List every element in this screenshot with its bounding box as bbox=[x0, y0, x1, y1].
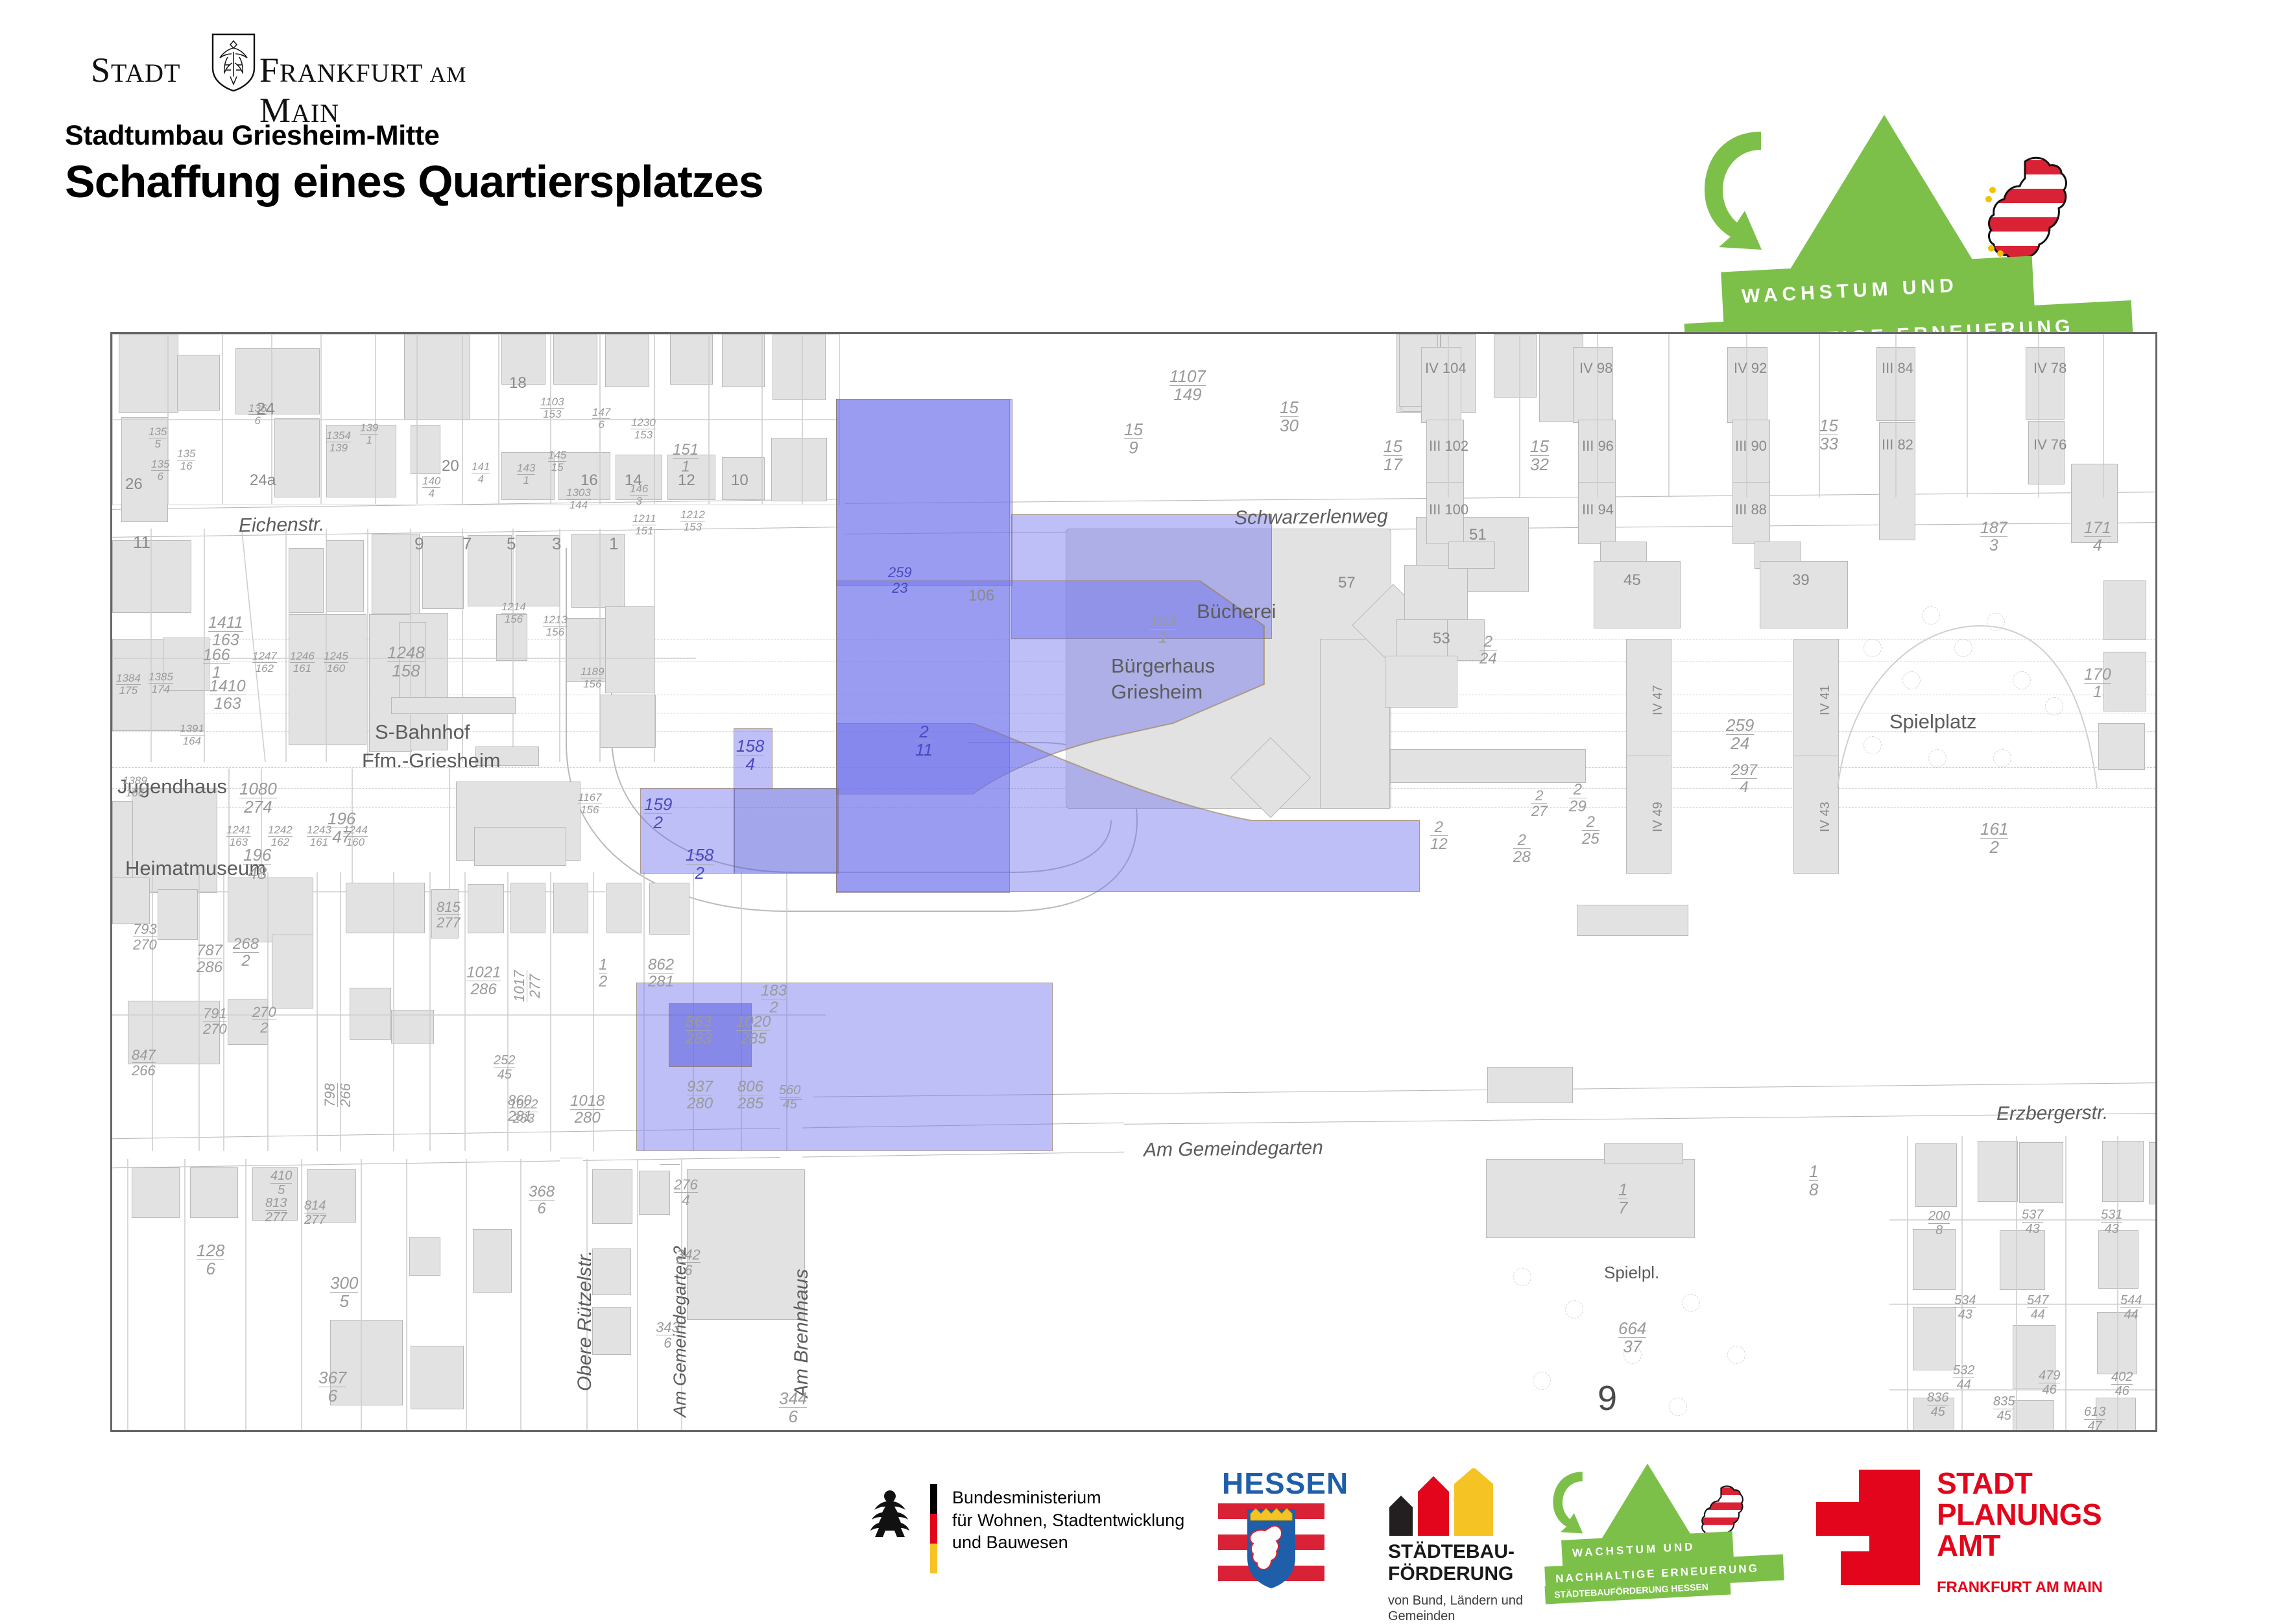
parcel-fraction: 1873 bbox=[1980, 519, 2007, 555]
parcel-denominator: 158 bbox=[392, 661, 420, 680]
parcel-denominator: 43 bbox=[2026, 1222, 2040, 1236]
parcel-fraction: 1531 bbox=[1150, 613, 1176, 646]
parcel-fraction: 19648 bbox=[243, 846, 271, 883]
parcel-denominator: 6 bbox=[598, 418, 604, 431]
program-logo-footer: WACHSTUM UND NACHHALTIGE ERNEUERUNG STÄD… bbox=[1550, 1466, 1810, 1602]
parcel-fraction: 56045 bbox=[779, 1084, 800, 1112]
parcel-fraction: 1213156 bbox=[543, 614, 568, 638]
parcel-fraction: 1167156 bbox=[578, 792, 602, 816]
parcel-denominator: 37 bbox=[1623, 1337, 1642, 1356]
parcel-denominator: 1 bbox=[681, 458, 689, 475]
house-number: IV 76 bbox=[2033, 436, 2066, 453]
building bbox=[2103, 580, 2146, 640]
parcel-fraction: 1592 bbox=[644, 796, 672, 832]
parcel-denominator: 32 bbox=[1530, 455, 1549, 474]
parcel-denominator: 2 bbox=[653, 813, 662, 832]
stadtplanungsamt-line1: STADT bbox=[1937, 1468, 2102, 1499]
parcel-denominator: 277 bbox=[527, 974, 543, 998]
street-label-schwarzerlenweg: Schwarzerlenweg bbox=[1234, 506, 1388, 529]
parcel-fraction: 159 bbox=[1124, 421, 1143, 457]
parcel-denominator: 6 bbox=[684, 1262, 692, 1278]
parcel-fraction: 229 bbox=[1569, 782, 1587, 815]
parcel-fraction: 1389166 bbox=[123, 775, 147, 799]
bmwsb-logo: Bundesministerium für Wohnen, Stadtentwi… bbox=[863, 1472, 1200, 1595]
parcel-denominator: 28 bbox=[1513, 848, 1531, 866]
parcel-denominator: 4 bbox=[477, 473, 483, 485]
poi-label-spielpl: Spielpl. bbox=[1604, 1263, 1659, 1283]
parcel-denominator: 30 bbox=[1280, 416, 1299, 435]
parcel-fraction: 1661 bbox=[203, 647, 230, 682]
parcel-fraction: 53244 bbox=[1953, 1364, 1974, 1392]
parcel-fraction: 3436 bbox=[656, 1320, 680, 1350]
parcel-denominator: 162 bbox=[256, 662, 274, 675]
parcel-denominator: 15 bbox=[551, 461, 564, 473]
parcel-denominator: 6 bbox=[157, 470, 163, 483]
poi-label-buecherei: Bücherei bbox=[1197, 600, 1276, 623]
house-number: 20 bbox=[442, 457, 459, 475]
staedtebau-title1: STÄDTEBAU- bbox=[1388, 1541, 1515, 1563]
parcel-denominator: 11 bbox=[915, 740, 933, 759]
parcel-fraction: 815277 bbox=[437, 900, 461, 930]
parcel-fraction: 863283 bbox=[686, 1014, 712, 1047]
parcel-denominator: 6 bbox=[206, 1259, 215, 1278]
parcel-fraction: 211 bbox=[915, 723, 933, 759]
parcel-fraction: 793270 bbox=[133, 922, 157, 952]
parcel-fraction: 1414 bbox=[472, 461, 490, 485]
parcel-fraction: 3686 bbox=[529, 1184, 555, 1217]
poi-label-spielplatz: Spielplatz bbox=[1889, 710, 1976, 734]
parcel-fraction: 813277 bbox=[265, 1197, 287, 1224]
parcel-denominator: 162 bbox=[271, 836, 289, 848]
parcel-lines bbox=[112, 1159, 826, 1430]
parcel-fraction: 1018280 bbox=[570, 1093, 605, 1126]
parcel-fraction: 1391 bbox=[360, 422, 378, 446]
parcel-denominator: 280 bbox=[575, 1109, 601, 1127]
house-number: IV 43 bbox=[1818, 802, 1833, 832]
parcel-denominator: 4 bbox=[428, 487, 434, 499]
parcel-fraction: 1511 bbox=[673, 442, 699, 475]
parcel-denominator: 17 bbox=[1384, 455, 1402, 474]
parcel-fraction: 1022283 bbox=[509, 1098, 538, 1126]
parcel-fraction: 1533 bbox=[1819, 417, 1838, 453]
parcel-fraction: 1530 bbox=[1280, 399, 1299, 435]
flag-stripe-gold bbox=[930, 1544, 937, 1573]
parcel-denominator: 47 bbox=[2088, 1419, 2102, 1432]
parcel-denominator: 283 bbox=[513, 1112, 534, 1126]
parcel-denominator: 4 bbox=[2093, 536, 2102, 555]
city-logo-word-frankfurt: FRANKFURT AM MAIN bbox=[259, 50, 506, 130]
parcel-denominator: 286 bbox=[197, 959, 222, 976]
parcel-denominator: 9 bbox=[1129, 438, 1138, 457]
house-number: 39 bbox=[1792, 571, 1810, 590]
house-number: 57 bbox=[1338, 574, 1356, 592]
parcel-denominator: 151 bbox=[635, 525, 653, 537]
poi-label-ffm-griesheim: Ffm.-Griesheim bbox=[362, 749, 501, 772]
parcel-fraction: 1211151 bbox=[632, 513, 656, 537]
parcel-fraction: 25924 bbox=[1726, 717, 1754, 753]
parcel-fraction: 83645 bbox=[1927, 1391, 1948, 1419]
parcel-denominator: 153 bbox=[634, 429, 653, 441]
parcel-denominator: 175 bbox=[119, 684, 138, 697]
parcel-denominator: 5 bbox=[278, 1183, 285, 1197]
parcel-fraction: 1080274 bbox=[239, 780, 277, 817]
parcel-fraction: 2764 bbox=[674, 1177, 698, 1208]
parcel-fraction: 1411163 bbox=[208, 614, 243, 649]
parcel-denominator: 45 bbox=[497, 1068, 512, 1082]
parcel-fraction: 1431 bbox=[517, 462, 535, 486]
city-logo: STADT FRANKFURT AM MAIN bbox=[91, 36, 506, 94]
house-number: IV 98 bbox=[1579, 360, 1612, 377]
house-number: IV 104 bbox=[1425, 360, 1467, 377]
parcel-fraction: 3426 bbox=[677, 1247, 701, 1278]
house-number: 45 bbox=[1623, 571, 1641, 590]
green-tree-icon bbox=[1790, 115, 1978, 277]
page-title: Schaffung eines Quartiersplatzes bbox=[65, 156, 763, 208]
stadtplanungsamt-line3: AMT bbox=[1937, 1531, 2102, 1562]
parcel-fraction: 791270 bbox=[203, 1006, 227, 1036]
parcel-fraction: 1355 bbox=[149, 426, 167, 450]
house-number: III 102 bbox=[1429, 438, 1468, 455]
parcel-denominator: 144 bbox=[569, 499, 588, 511]
parcel-denominator: 4 bbox=[1740, 778, 1748, 796]
parcel-fraction: 1517 bbox=[1384, 438, 1402, 474]
building bbox=[1448, 542, 1495, 569]
building bbox=[2098, 723, 2145, 770]
tree-symbol bbox=[1682, 1294, 1700, 1312]
street-label-am-gemeindegarten: Am Gemeindegarten bbox=[1144, 1137, 1323, 1162]
house-number: 5 bbox=[507, 534, 516, 554]
parcel-fraction: 25245 bbox=[494, 1054, 515, 1082]
parcel-denominator: 5 bbox=[154, 438, 160, 450]
parcel-denominator: 161 bbox=[310, 836, 328, 848]
parcel-denominator: 2 bbox=[695, 863, 704, 883]
staedtebau-houses-icon bbox=[1388, 1468, 1505, 1536]
house-number: IV 47 bbox=[1651, 685, 1666, 715]
parcel-fraction: 847266 bbox=[132, 1047, 156, 1078]
parcel-fraction: 1701 bbox=[2084, 666, 2111, 701]
building bbox=[1487, 1067, 1573, 1103]
parcel-denominator: 8 bbox=[1809, 1180, 1818, 1199]
stadtplanungsamt-line2: PLANUNGS bbox=[1937, 1499, 2102, 1531]
parcel-fraction: 227 bbox=[1531, 788, 1547, 818]
parcel-denominator: 45 bbox=[1997, 1409, 2011, 1423]
parcel-fraction: 1532 bbox=[1530, 438, 1549, 474]
parcel-fraction: 61347 bbox=[2084, 1405, 2105, 1432]
house-number: 26 bbox=[125, 475, 143, 494]
parcel-denominator: 153 bbox=[684, 521, 702, 533]
building bbox=[1604, 1143, 1683, 1164]
stadtplanungsamt-logo: STADT PLANUNGS AMT FRANKFURT AM MAIN bbox=[1816, 1468, 2140, 1598]
stadtplanungsamt-mark-icon bbox=[1816, 1468, 1920, 1585]
parcel-fraction: 17 bbox=[1618, 1181, 1627, 1217]
parcel-denominator: 156 bbox=[546, 626, 564, 638]
parcel-denominator: 274 bbox=[244, 797, 272, 817]
poi-label-s-bahnhof: S-Bahnhof bbox=[375, 721, 470, 744]
parcel-fraction: 787286 bbox=[197, 942, 222, 975]
parcel-fraction: 1242162 bbox=[268, 824, 293, 848]
house-number: 10 bbox=[731, 472, 749, 490]
parcel-fraction: 1385174 bbox=[149, 671, 173, 695]
parcel-denominator: 24 bbox=[1731, 734, 1749, 753]
house-number: 51 bbox=[1469, 526, 1487, 544]
parcel-denominator: 3 bbox=[636, 495, 641, 507]
tree-symbol bbox=[1727, 1346, 1745, 1364]
parcel-fraction: 1189156 bbox=[581, 666, 605, 690]
parcel-denominator: 166 bbox=[126, 787, 144, 799]
parcel-denominator: 270 bbox=[203, 1021, 227, 1037]
parcel-fraction: 224 bbox=[1479, 634, 1497, 667]
parcel-denominator: 1 bbox=[2093, 683, 2102, 701]
house-number: IV 92 bbox=[1734, 360, 1767, 377]
parcel-denominator: 163 bbox=[214, 695, 241, 713]
parcel-denominator: 270 bbox=[133, 937, 157, 953]
parcel-fraction: 1017277 bbox=[512, 970, 542, 1002]
parcel-denominator: 174 bbox=[152, 683, 170, 695]
parcel-denominator: 3 bbox=[1989, 536, 1998, 555]
street-label-eichenstr: Eichenstr. bbox=[239, 514, 325, 537]
parcel-denominator: 6 bbox=[254, 414, 260, 427]
flag-stripe-black bbox=[930, 1484, 937, 1514]
house-number: 18 bbox=[509, 374, 527, 392]
parcel-denominator: 285 bbox=[741, 1030, 767, 1047]
parcel-fraction: 1584 bbox=[736, 737, 764, 774]
tree-symbol bbox=[1513, 1268, 1531, 1286]
parcel-fraction: 2008 bbox=[1928, 1210, 1950, 1237]
parcel-denominator: 24 bbox=[1479, 650, 1497, 667]
parcel-denominator: 2 bbox=[260, 1020, 268, 1036]
staedtebau-title2: FÖRDERUNG bbox=[1388, 1563, 1515, 1585]
parcel-fraction: 19647 bbox=[328, 810, 355, 846]
house-number: 1 bbox=[609, 534, 618, 554]
parcel-fraction: 83545 bbox=[1993, 1395, 2015, 1423]
parcel-denominator: 285 bbox=[737, 1095, 763, 1112]
city-logo-word-stadt: STADT bbox=[91, 50, 180, 90]
frankfurt-eagle-crest-icon bbox=[211, 32, 256, 92]
parcel-denominator: 45 bbox=[783, 1097, 797, 1112]
parcel-denominator: 6 bbox=[537, 1200, 545, 1217]
parcel-denominator: 6 bbox=[328, 1386, 337, 1405]
poi-label-buergerhaus-griesheim: Griesheim bbox=[1111, 680, 1203, 704]
highlight-area-south-station bbox=[836, 399, 1010, 893]
parcel-denominator: 23 bbox=[892, 580, 907, 596]
house-number: IV 49 bbox=[1651, 802, 1666, 832]
parcel-denominator: 47 bbox=[332, 827, 351, 846]
parcel-fraction: 1410163 bbox=[210, 678, 246, 713]
parcel-fraction: 1246161 bbox=[290, 651, 315, 675]
staedtebau-sub1: von Bund, Ländern und bbox=[1388, 1593, 1523, 1608]
parcel-fraction: 2682 bbox=[233, 936, 259, 969]
parcel-denominator: 33 bbox=[1819, 434, 1838, 453]
parcel-fraction: 1247162 bbox=[252, 651, 277, 675]
parcel-fraction: 1384175 bbox=[116, 673, 141, 697]
parcel-fraction: 1476 bbox=[592, 407, 610, 431]
house-number: 3 bbox=[552, 534, 561, 554]
parcel-denominator: 156 bbox=[505, 613, 523, 625]
house-number: III 90 bbox=[1735, 438, 1767, 455]
house-number: III 88 bbox=[1735, 501, 1767, 518]
parcel-denominator: 44 bbox=[2124, 1308, 2138, 1322]
bmwsb-line2: für Wohnen, Stadtentwicklung bbox=[952, 1509, 1184, 1532]
parcel-fraction: 4105 bbox=[270, 1169, 292, 1197]
parcel-denominator: 7 bbox=[1618, 1198, 1627, 1217]
parcel-denominator: 2 bbox=[1989, 837, 1998, 857]
tree-symbol bbox=[1533, 1372, 1551, 1390]
map-canvas: Eichenstr. Schwarzerlenweg S-Bahnhof Ffm… bbox=[112, 334, 2155, 1430]
parcel-fraction: 1391164 bbox=[180, 723, 204, 747]
parcel-denominator: 43 bbox=[2105, 1222, 2119, 1236]
parcel-fraction: 82045 bbox=[1956, 1430, 1977, 1432]
parcel-denominator: 5 bbox=[339, 1291, 348, 1311]
footer-logos: Bundesministerium für Wohnen, Stadtentwi… bbox=[0, 1459, 2276, 1608]
bundesadler-icon bbox=[863, 1487, 917, 1551]
parcel-lines bbox=[1384, 334, 2155, 497]
parcel-fraction: 53443 bbox=[1954, 1294, 1976, 1322]
park-outline bbox=[1825, 580, 2123, 794]
street-label-am-brennhaus: Am Brennhaus bbox=[791, 1269, 813, 1398]
parcel-fraction: 1214156 bbox=[501, 601, 526, 625]
parcel-denominator: 139 bbox=[329, 442, 348, 454]
program-logo-line1: WACHSTUM UND bbox=[1741, 275, 1958, 308]
parcel-fraction: 1463 bbox=[630, 483, 648, 507]
hessen-logo: HESSEN bbox=[1218, 1466, 1341, 1595]
parcel-denominator: 44 bbox=[1957, 1378, 1971, 1392]
house-number: III 82 bbox=[1882, 436, 1913, 453]
parcel-fraction: 814277 bbox=[304, 1199, 326, 1227]
parcel-denominator: 266 bbox=[337, 1083, 353, 1107]
street-label-obere-ruetzelstr: Obere Rützelstr. bbox=[574, 1250, 596, 1391]
parcel-fraction: 53143 bbox=[2101, 1208, 2122, 1236]
house-number: III 94 bbox=[1582, 501, 1614, 518]
parcel-denominator: 27 bbox=[1531, 803, 1547, 819]
parcel-fraction: 1366 bbox=[248, 403, 267, 427]
parcel-fraction: 798266 bbox=[322, 1083, 353, 1107]
parcel-fraction: 2702 bbox=[252, 1005, 276, 1035]
parcel-denominator: 266 bbox=[132, 1062, 156, 1079]
parcel-denominator: 280 bbox=[687, 1095, 713, 1112]
parcel-denominator: 8 bbox=[1935, 1223, 1943, 1237]
cadastral-map[interactable]: Eichenstr. Schwarzerlenweg S-Bahnhof Ffm… bbox=[110, 332, 2157, 1432]
house-number: 7 bbox=[462, 534, 472, 554]
program-footer-line1: WACHSTUM UND bbox=[1572, 1540, 1695, 1560]
parcel-fraction: 1356 bbox=[151, 459, 169, 483]
parcel-fraction: 212 bbox=[1430, 819, 1448, 852]
highlight-area-parcel-158-2 bbox=[734, 788, 839, 874]
staedtebau-sub2: Gemeinden bbox=[1388, 1608, 1523, 1624]
parcel-denominator: 44 bbox=[2031, 1308, 2045, 1322]
parcel-denominator: 6 bbox=[664, 1335, 671, 1351]
parcel-denominator: 156 bbox=[581, 804, 599, 816]
house-number: 106 bbox=[968, 587, 994, 605]
parcel-denominator: 16 bbox=[180, 460, 193, 472]
parcel-denominator: 6 bbox=[788, 1407, 797, 1426]
parcel-denominator: 46 bbox=[2115, 1384, 2129, 1398]
parcel-fraction: 47946 bbox=[2039, 1369, 2060, 1397]
parcel-denominator: 1 bbox=[212, 663, 221, 682]
house-number: 53 bbox=[1433, 630, 1450, 648]
parcel-denominator: 277 bbox=[265, 1210, 287, 1224]
parcel-denominator: 4 bbox=[745, 754, 754, 774]
parcel-fraction: 1582 bbox=[686, 846, 713, 883]
tree-symbol bbox=[1565, 1300, 1583, 1319]
north-arrow-label: 9 bbox=[1598, 1378, 1617, 1418]
stadtplanungsamt-line4: FRANKFURT AM MAIN bbox=[1937, 1579, 2103, 1596]
house-number: 11 bbox=[133, 532, 150, 553]
parcel-fraction: 12 bbox=[599, 957, 607, 990]
parcel-denominator: 283 bbox=[686, 1030, 712, 1047]
parcel-denominator: 48 bbox=[248, 863, 267, 883]
parcel-fraction: 54444 bbox=[2120, 1294, 2142, 1322]
parcel-denominator: 1 bbox=[366, 434, 372, 446]
parcel-fraction: 1107149 bbox=[1169, 368, 1206, 404]
platform bbox=[391, 697, 516, 714]
parcel-fraction: 14515 bbox=[548, 449, 566, 473]
parcel-fraction: 228 bbox=[1513, 832, 1531, 865]
parcel-denominator: 29 bbox=[1569, 798, 1587, 815]
parcel-fraction: 1303144 bbox=[566, 487, 591, 511]
parcel-fraction: 53743 bbox=[2022, 1208, 2043, 1236]
parcel-fraction: 2974 bbox=[1731, 762, 1757, 795]
house-number: 9 bbox=[414, 534, 424, 554]
house-number: IV 41 bbox=[1818, 685, 1833, 715]
parcel-fraction: 862281 bbox=[648, 957, 674, 990]
parcel-fraction: 1832 bbox=[761, 983, 787, 1016]
parcel-fraction: 1404 bbox=[422, 475, 440, 499]
parcel-fraction: 1286 bbox=[197, 1242, 224, 1278]
parcel-fraction: 1245160 bbox=[324, 651, 348, 675]
house-number: III 84 bbox=[1882, 360, 1913, 377]
parcel-denominator: 46 bbox=[2042, 1383, 2057, 1397]
parcel-fraction: 18 bbox=[1809, 1163, 1818, 1199]
building bbox=[1486, 1159, 1695, 1238]
parcel-fraction: 1021286 bbox=[466, 964, 501, 997]
tree-symbol bbox=[1669, 1398, 1687, 1416]
parcel-denominator: 4 bbox=[682, 1192, 689, 1208]
parcel-fraction: 66437 bbox=[1618, 1320, 1646, 1356]
parcel-fraction: 937280 bbox=[687, 1079, 713, 1112]
parcel-denominator: 286 bbox=[471, 981, 497, 998]
house-number: IV 78 bbox=[2033, 360, 2066, 377]
parcel-denominator: 160 bbox=[327, 662, 345, 675]
program-footer-line3: STÄDTEBAUFÖRDERUNG HESSEN bbox=[1554, 1581, 1709, 1599]
parcel-fraction: 13516 bbox=[177, 448, 195, 472]
parcel-denominator: 156 bbox=[583, 678, 601, 690]
parcel-denominator: 161 bbox=[293, 662, 311, 675]
bmwsb-line1: Bundesministerium bbox=[952, 1487, 1184, 1509]
parcel-fraction: 54744 bbox=[2027, 1294, 2048, 1322]
bmwsb-line3: und Bauwesen bbox=[952, 1531, 1184, 1554]
parcel-denominator: 149 bbox=[1173, 385, 1201, 404]
building bbox=[1577, 905, 1688, 936]
parcel-fraction: 3446 bbox=[779, 1390, 807, 1426]
parcel-fraction: 1248158 bbox=[387, 644, 425, 680]
flag-stripe-red bbox=[930, 1514, 937, 1544]
parcel-fraction: 1212153 bbox=[680, 509, 705, 533]
parcel-denominator: 164 bbox=[183, 735, 201, 747]
parcel-fraction: 3005 bbox=[330, 1274, 358, 1311]
hessen-wordmark: HESSEN bbox=[1222, 1466, 1348, 1501]
parcel-denominator: 1 bbox=[523, 474, 529, 486]
house-number: III 100 bbox=[1429, 501, 1468, 518]
parcel-denominator: 277 bbox=[304, 1213, 326, 1227]
parcel-denominator: 2 bbox=[241, 952, 250, 970]
parcel-fraction: 1612 bbox=[1980, 820, 2008, 857]
parcel-denominator: 43 bbox=[1958, 1308, 1972, 1322]
parcel-denominator: 45 bbox=[1931, 1405, 1945, 1419]
parcel-fraction: 25923 bbox=[888, 565, 912, 595]
parcel-denominator: 277 bbox=[437, 914, 461, 931]
house-number: III 96 bbox=[1582, 438, 1614, 455]
hessen-flag-icon bbox=[1218, 1503, 1324, 1589]
